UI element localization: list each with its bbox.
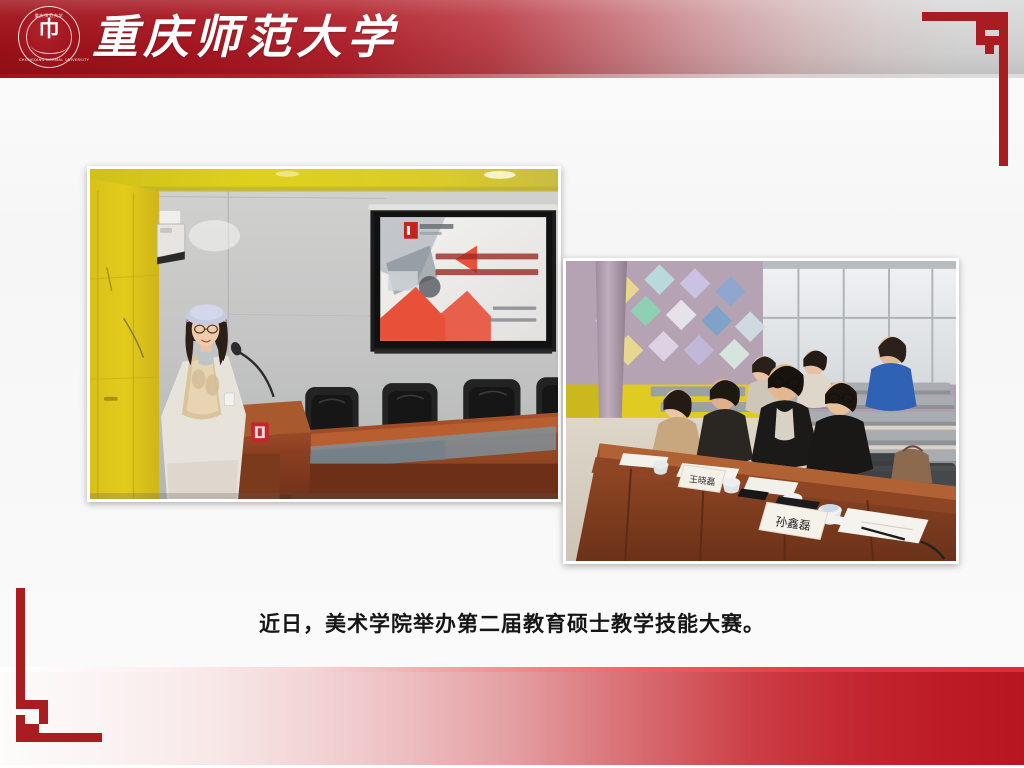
photo-podium-image bbox=[90, 169, 558, 499]
footer-gradient-band bbox=[0, 670, 1024, 766]
header-underline bbox=[0, 74, 1024, 78]
slide-root: 重庆师范大学 巾 CHONGQING NORMAL UNIVERSITY 重庆师… bbox=[0, 0, 1024, 768]
university-name-title: 重庆师范大学 bbox=[92, 4, 398, 70]
page-caption: 近日，美术学院举办第二届教育硕士教学技能大赛。 bbox=[0, 608, 1024, 638]
photo-judges-image: 王晓磊 孙鑫磊 bbox=[566, 261, 956, 561]
photo-judges-panel: 王晓磊 孙鑫磊 bbox=[563, 258, 959, 564]
university-seal-icon: 重庆师范大学 巾 CHONGQING NORMAL UNIVERSITY bbox=[18, 6, 80, 68]
corner-ornament-top-right-icon bbox=[900, 4, 1024, 174]
footer-highlight-line bbox=[0, 667, 1024, 672]
seal-arc-bottom-text: CHONGQING NORMAL UNIVERSITY bbox=[19, 58, 79, 62]
seal-center-glyph: 巾 bbox=[19, 18, 79, 39]
photo-podium-speaker bbox=[87, 166, 561, 502]
page-header: 重庆师范大学 巾 CHONGQING NORMAL UNIVERSITY 重庆师… bbox=[0, 0, 1024, 74]
